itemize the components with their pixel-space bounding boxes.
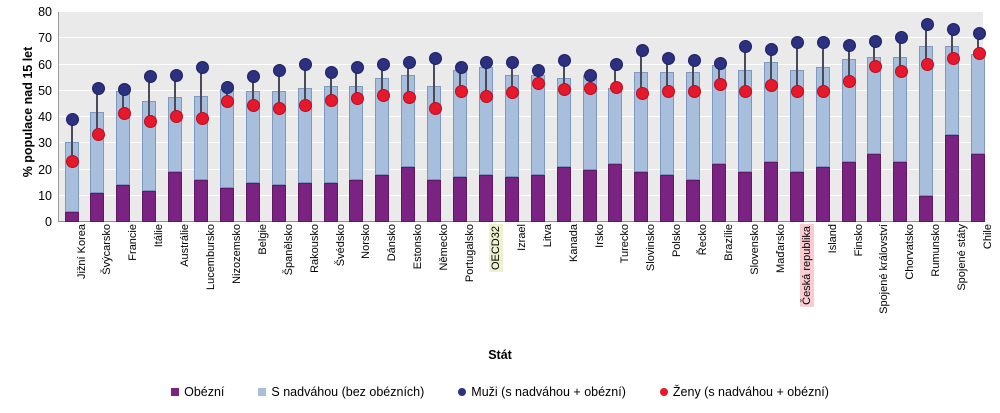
x-tick-label: Turecko [619, 224, 632, 263]
data-point-men[interactable] [662, 52, 675, 65]
bar-segment-overweight [608, 88, 622, 164]
data-point-women[interactable] [895, 65, 908, 78]
bar-column[interactable] [272, 12, 286, 222]
legend-label: Ženy (s nadváhou + obézní) [673, 385, 829, 399]
x-tick-label: Francie [127, 224, 140, 261]
x-tick-label-text: Austrálie [179, 224, 191, 267]
x-tick-label-text: Spojené království [878, 224, 890, 314]
bar-column[interactable] [893, 12, 907, 222]
data-point-women[interactable] [273, 102, 286, 115]
data-point-women[interactable] [714, 78, 727, 91]
x-tick-label-text: Belgie [257, 224, 269, 255]
data-point-women[interactable] [791, 85, 804, 98]
x-tick-label: Maďarsko [775, 224, 788, 273]
x-tick-label-text: Izrael [516, 224, 528, 251]
data-point-men[interactable] [739, 40, 752, 53]
data-point-men[interactable] [921, 18, 934, 31]
data-point-men[interactable] [455, 61, 468, 74]
bar-column[interactable] [531, 12, 545, 222]
x-axis-labels: Jižní KoreaŠvýcarskoFrancieItálieAustrál… [58, 224, 983, 344]
bar-segment-overweight [531, 75, 545, 175]
x-tick-label-text: Polsko [671, 224, 683, 257]
data-point-men[interactable] [429, 52, 442, 65]
bar-segment-obese [790, 172, 804, 222]
y-tick-label: 70 [18, 32, 52, 45]
data-point-women[interactable] [869, 60, 882, 73]
bar-column[interactable] [660, 12, 674, 222]
bar-column[interactable] [349, 12, 363, 222]
bar-column[interactable] [608, 12, 622, 222]
bar-segment-obese [738, 172, 752, 222]
data-point-women[interactable] [455, 85, 468, 98]
bar-segment-obese [893, 162, 907, 222]
x-tick-label: Austrálie [179, 224, 192, 267]
x-tick-label-text: Jižní Korea [76, 224, 88, 279]
bar-segment-obese [842, 162, 856, 222]
bar-column[interactable] [583, 12, 597, 222]
legend-square-icon [171, 388, 179, 396]
legend-circle-icon [660, 388, 668, 396]
bar-column[interactable] [168, 12, 182, 222]
data-point-women[interactable] [973, 47, 986, 60]
data-point-women[interactable] [688, 85, 701, 98]
bar-segment-obese [349, 180, 363, 222]
data-point-women[interactable] [947, 52, 960, 65]
bar-column[interactable] [298, 12, 312, 222]
data-point-men[interactable] [144, 70, 157, 83]
bar-segment-obese [142, 191, 156, 223]
x-tick-label: Itálie [153, 224, 166, 247]
data-point-women[interactable] [92, 128, 105, 141]
x-tick-label-text: Litva [542, 224, 554, 247]
bar-column[interactable] [634, 12, 648, 222]
bar-segment-obese [324, 183, 338, 222]
x-tick-label: Kanada [568, 224, 581, 262]
x-tick-label: Spojené království [878, 224, 891, 314]
data-point-women[interactable] [144, 115, 157, 128]
x-tick-label: Nizozemsko [231, 224, 244, 284]
bar-column[interactable] [246, 12, 260, 222]
data-point-women[interactable] [429, 102, 442, 115]
data-point-women[interactable] [325, 94, 338, 107]
x-tick-label-ceska-republika: Česká republika [801, 224, 814, 307]
x-tick-label-text: Francie [127, 224, 139, 261]
x-tick-label: Španělsko [283, 224, 296, 275]
x-tick-label: Polsko [671, 224, 684, 257]
bar-segment-obese [168, 172, 182, 222]
x-tick-label: Irsko [594, 224, 607, 248]
bar-segment-obese [220, 188, 234, 222]
x-tick-label: Řecko [697, 224, 710, 255]
x-tick-label: Belgie [257, 224, 270, 255]
data-point-women[interactable] [170, 110, 183, 123]
bar-segment-obese [531, 175, 545, 222]
bar-segment-obese [90, 193, 104, 222]
data-point-men[interactable] [791, 36, 804, 49]
y-tick-label: 10 [18, 190, 52, 203]
x-tick-label-text: Itálie [153, 224, 165, 247]
data-point-men[interactable] [584, 69, 597, 82]
bar-column[interactable] [505, 12, 519, 222]
y-tick-label: 40 [18, 111, 52, 124]
x-tick-label: Dánsko [386, 224, 399, 261]
data-point-men[interactable] [714, 57, 727, 70]
bar-segment-obese [583, 170, 597, 223]
data-point-men[interactable] [92, 82, 105, 95]
bar-column[interactable] [557, 12, 571, 222]
x-tick-label: Jižní Korea [76, 224, 89, 279]
x-tick-label-text: Finsko [853, 224, 865, 256]
bar-segment-obese [401, 167, 415, 222]
bar-segment-obese [634, 172, 648, 222]
bar-segment-obese [660, 175, 674, 222]
legend-square-icon [258, 388, 266, 396]
bar-column[interactable] [194, 12, 208, 222]
bar-segment-obese [427, 180, 441, 222]
bar-segment-obese [116, 185, 130, 222]
bar-column[interactable] [427, 12, 441, 222]
bar-column[interactable] [971, 12, 985, 222]
data-point-women[interactable] [817, 85, 830, 98]
bar-segment-obese [298, 183, 312, 222]
bar-segment-obese [764, 162, 778, 222]
bar-segment-obese [453, 177, 467, 222]
x-tick-label-text: Kanada [568, 224, 580, 262]
legend-circle-icon [458, 388, 466, 396]
bar-column[interactable] [479, 12, 493, 222]
data-point-men[interactable] [765, 43, 778, 56]
data-point-men[interactable] [506, 56, 519, 69]
x-tick-label: Německo [438, 224, 451, 270]
x-axis-title: Stát [0, 348, 1000, 362]
bar-column[interactable] [686, 12, 700, 222]
bar-segment-obese [505, 177, 519, 222]
bar-segment-overweight [971, 54, 985, 154]
data-point-men[interactable] [403, 56, 416, 69]
y-tick-label: 0 [18, 216, 52, 229]
bar-segment-obese [65, 212, 79, 223]
data-point-women[interactable] [403, 91, 416, 104]
bar-column[interactable] [324, 12, 338, 222]
bar-segment-obese [272, 185, 286, 222]
x-tick-label: Island [827, 224, 840, 253]
bar-column[interactable] [790, 12, 804, 222]
data-point-men[interactable] [299, 58, 312, 71]
data-point-women[interactable] [921, 58, 934, 71]
bar-segment-obese [686, 180, 700, 222]
data-point-women[interactable] [118, 107, 131, 120]
bar-segment-obese [557, 167, 571, 222]
x-tick-label: Švýcarsko [101, 224, 114, 275]
data-point-men[interactable] [636, 44, 649, 57]
data-point-men[interactable] [688, 54, 701, 67]
data-point-women[interactable] [584, 82, 597, 95]
data-point-men[interactable] [973, 27, 986, 40]
data-point-women[interactable] [299, 99, 312, 112]
data-point-men[interactable] [273, 64, 286, 77]
legend-zeny[interactable]: Ženy (s nadváhou + obézní) [660, 385, 829, 399]
x-tick-label-text: Portugalsko [464, 224, 476, 282]
legend-s-nadvahou[interactable]: S nadváhou (bez obézních) [258, 385, 424, 399]
data-point-men[interactable] [196, 61, 209, 74]
bar-column[interactable] [453, 12, 467, 222]
legend-label: Obézní [184, 385, 224, 399]
data-point-men[interactable] [170, 69, 183, 82]
x-tick-label: Spojené státy [956, 224, 969, 291]
data-point-women[interactable] [377, 89, 390, 102]
data-point-men[interactable] [610, 58, 623, 71]
chart-root: % populace nad 15 let 01020304050607080 … [0, 0, 1000, 413]
data-point-women[interactable] [662, 85, 675, 98]
data-point-women[interactable] [739, 85, 752, 98]
bar-column[interactable] [220, 12, 234, 222]
y-tick-label: 80 [18, 6, 52, 19]
y-tick-label: 20 [18, 164, 52, 177]
bar-column[interactable] [401, 12, 415, 222]
x-tick-label-text: Estonsko [412, 224, 424, 269]
bar-column[interactable] [816, 12, 830, 222]
x-tick-label: Izrael [516, 224, 529, 251]
x-tick-label-text: Španělsko [283, 224, 295, 275]
x-tick-label-text: Island [827, 224, 839, 253]
bar-column[interactable] [712, 12, 726, 222]
data-point-men[interactable] [558, 54, 571, 67]
x-tick-label-text: Řecko [697, 224, 709, 255]
bar-column[interactable] [90, 12, 104, 222]
legend-obezni[interactable]: Obézní [171, 385, 224, 399]
x-tick-label-text: Irsko [594, 224, 606, 248]
bar-segment-obese [246, 183, 260, 222]
x-tick-label-text: Švýcarsko [101, 224, 113, 275]
y-tick-label: 30 [18, 137, 52, 150]
data-point-men[interactable] [118, 83, 131, 96]
bar-column[interactable] [738, 12, 752, 222]
chart-legend: ObézníS nadváhou (bez obézních)Muži (s n… [0, 385, 1000, 399]
bar-segment-obese [919, 196, 933, 222]
x-tick-label-text: Slovinsko [645, 224, 657, 271]
x-tick-label-text: Slovensko [749, 224, 761, 275]
bar-segment-obese [479, 175, 493, 222]
bar-segment-obese [194, 180, 208, 222]
x-tick-label-text: Norsko [360, 224, 372, 259]
x-tick-label-text: Spojené státy [956, 224, 968, 291]
data-point-men[interactable] [817, 36, 830, 49]
data-point-women[interactable] [636, 87, 649, 100]
data-point-men[interactable] [843, 39, 856, 52]
x-tick-label-text: Maďarsko [775, 224, 787, 273]
bar-segment-obese [945, 135, 959, 222]
x-tick-label-text: Turecko [619, 224, 631, 263]
x-tick-label-text: Brazílie [723, 224, 735, 261]
data-point-men[interactable] [221, 81, 234, 94]
bar-column[interactable] [842, 12, 856, 222]
data-point-men[interactable] [947, 23, 960, 36]
x-tick-label: Rakousko [309, 224, 322, 273]
x-tick-label-text: Česká republika [800, 224, 814, 307]
x-tick-label: Chorvatsko [904, 224, 917, 280]
x-tick-label-text: Nizozemsko [231, 224, 243, 284]
x-tick-label-text: Rakousko [309, 224, 321, 273]
bar-segment-obese [712, 164, 726, 222]
data-point-men[interactable] [351, 61, 364, 74]
x-tick-label: Portugalsko [464, 224, 477, 282]
x-tick-label-text: OECD32 [489, 224, 503, 272]
bar-column[interactable] [375, 12, 389, 222]
x-tick-label: Slovensko [749, 224, 762, 275]
bar-segment-obese [971, 154, 985, 222]
data-point-women[interactable] [610, 81, 623, 94]
data-point-men[interactable] [377, 58, 390, 71]
bar-column[interactable] [919, 12, 933, 222]
bar-column[interactable] [764, 12, 778, 222]
x-tick-label: Finsko [853, 224, 866, 256]
x-tick-label-text: Chorvatsko [904, 224, 916, 280]
x-tick-label: Norsko [360, 224, 373, 259]
bar-column[interactable] [945, 12, 959, 222]
x-tick-label: Estonsko [412, 224, 425, 269]
x-tick-label: Litva [542, 224, 555, 247]
bar-segment-obese [816, 167, 830, 222]
x-tick-label: Slovinsko [645, 224, 658, 271]
legend-muzi[interactable]: Muži (s nadváhou + obézní) [458, 385, 626, 399]
x-tick-label-text: Německo [438, 224, 450, 270]
x-tick-label-text: Lucembursko [205, 224, 217, 290]
x-tick-label-text: Chile [982, 224, 994, 249]
x-tick-label-text: Rumunsko [930, 224, 942, 277]
bar-column[interactable] [142, 12, 156, 222]
legend-label: Muži (s nadváhou + obézní) [471, 385, 626, 399]
x-tick-label: Lucembursko [205, 224, 218, 290]
data-point-women[interactable] [196, 112, 209, 125]
x-tick-label-text: Švédsko [335, 224, 347, 266]
bar-column[interactable] [116, 12, 130, 222]
data-point-women[interactable] [532, 77, 545, 90]
plot-area [58, 12, 983, 222]
data-point-men[interactable] [895, 31, 908, 44]
x-tick-label: Brazílie [723, 224, 736, 261]
x-tick-label: Švédsko [335, 224, 348, 266]
data-point-men[interactable] [532, 64, 545, 77]
bar-segment-obese [375, 175, 389, 222]
bar-column[interactable] [867, 12, 881, 222]
data-point-men[interactable] [325, 66, 338, 79]
bar-column[interactable] [65, 12, 79, 222]
x-tick-label: Chile [982, 224, 995, 249]
data-point-men[interactable] [247, 70, 260, 83]
y-tick-label: 50 [18, 85, 52, 98]
x-tick-label: Rumunsko [930, 224, 943, 277]
bar-segment-obese [867, 154, 881, 222]
bar-segment-obese [608, 164, 622, 222]
data-point-men[interactable] [66, 113, 79, 126]
x-tick-label-oecd32: OECD32 [490, 224, 503, 272]
y-tick-label: 60 [18, 59, 52, 72]
x-tick-label-text: Dánsko [386, 224, 398, 261]
legend-label: S nadváhou (bez obézních) [271, 385, 424, 399]
data-point-men[interactable] [869, 35, 882, 48]
